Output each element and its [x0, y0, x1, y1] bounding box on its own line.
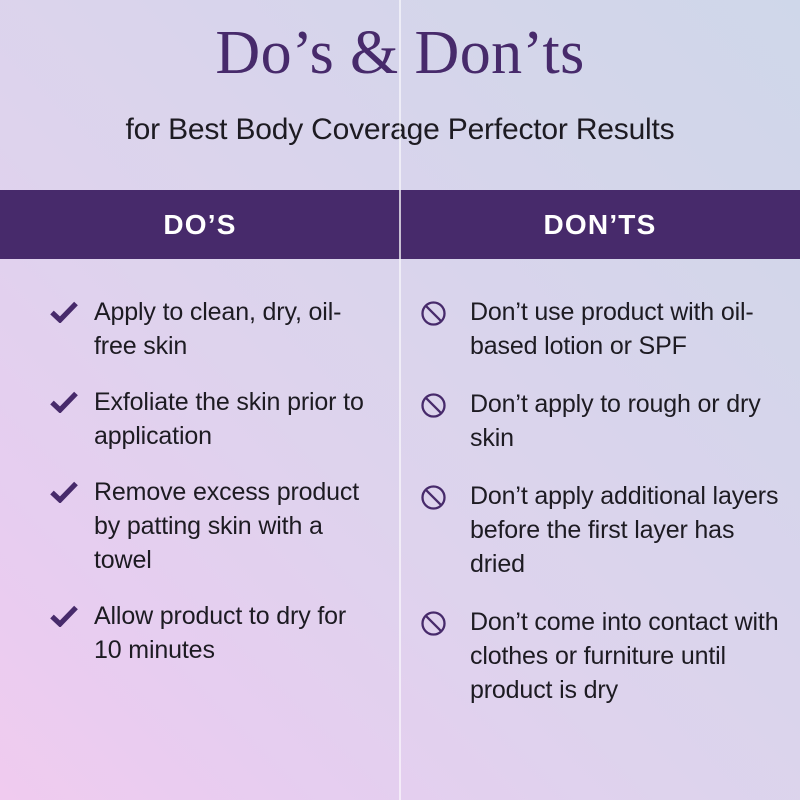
dos-and-donts-infographic: Do’s & Don’ts for Best Body Coverage Per…	[0, 0, 800, 800]
list-item: Don’t apply to rough or dry skin	[414, 387, 782, 455]
prohibited-icon	[414, 387, 462, 419]
list-item: Don’t come into contact with clothes or …	[414, 605, 782, 707]
list-item: Allow product to dry for 10 minutes	[50, 599, 372, 667]
column-heading-donts: DON’TS	[400, 190, 800, 259]
list-item: Don’t use product with oil-based lotion …	[414, 295, 782, 363]
list-item-text: Remove excess product by patting skin wi…	[84, 475, 372, 577]
list-item: Don’t apply additional layers before the…	[414, 479, 782, 581]
columns-body: Apply to clean, dry, oil-free skin Exfol…	[0, 259, 800, 800]
list-item: Exfoliate the skin prior to application	[50, 385, 372, 453]
prohibited-icon	[414, 479, 462, 511]
donts-column: Don’t use product with oil-based lotion …	[400, 259, 800, 800]
list-item: Apply to clean, dry, oil-free skin	[50, 295, 372, 363]
prohibited-icon	[414, 605, 462, 637]
check-icon	[50, 599, 84, 627]
check-icon	[50, 385, 84, 413]
list-item-text: Don’t use product with oil-based lotion …	[462, 295, 782, 363]
list-item-text: Don’t apply to rough or dry skin	[462, 387, 782, 455]
check-icon	[50, 295, 84, 323]
column-heading-donts-label: DON’TS	[544, 209, 657, 241]
list-item-text: Apply to clean, dry, oil-free skin	[84, 295, 372, 363]
list-item: Remove excess product by patting skin wi…	[50, 475, 372, 577]
list-item-text: Allow product to dry for 10 minutes	[84, 599, 372, 667]
check-icon	[50, 475, 84, 503]
column-divider-band-segment	[399, 190, 401, 259]
list-item-text: Don’t apply additional layers before the…	[462, 479, 782, 581]
dos-column: Apply to clean, dry, oil-free skin Exfol…	[0, 259, 400, 800]
prohibited-icon	[414, 295, 462, 327]
list-item-text: Exfoliate the skin prior to application	[84, 385, 372, 453]
list-item-text: Don’t come into contact with clothes or …	[462, 605, 782, 707]
column-heading-dos-label: DO’S	[163, 209, 236, 241]
column-heading-dos: DO’S	[0, 190, 400, 259]
